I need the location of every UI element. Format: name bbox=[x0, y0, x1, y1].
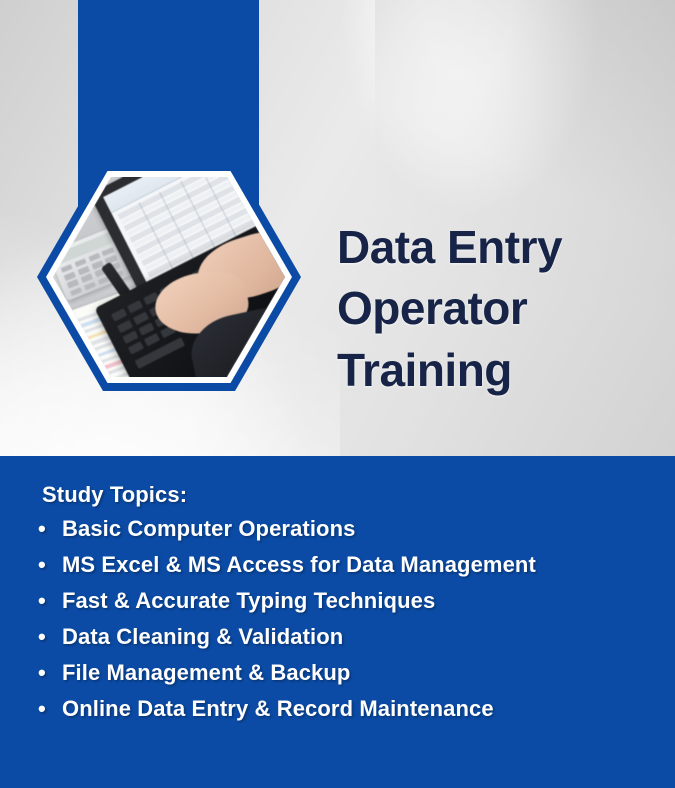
study-topic-label: Fast & Accurate Typing Techniques bbox=[62, 588, 435, 614]
list-item: •Basic Computer Operations bbox=[38, 516, 658, 552]
study-topic-label: Basic Computer Operations bbox=[62, 516, 355, 542]
training-course-poster: Data Entry Operator Training Study Topic… bbox=[0, 0, 675, 788]
bullet-icon: • bbox=[38, 590, 62, 612]
study-topic-label: MS Excel & MS Access for Data Management bbox=[62, 552, 536, 578]
list-item: •File Management & Backup bbox=[38, 660, 658, 696]
photo-calculator-key bbox=[84, 281, 96, 290]
study-topic-label: File Management & Backup bbox=[62, 660, 350, 686]
list-item: •Online Data Entry & Record Maintenance bbox=[38, 696, 658, 732]
study-topics-heading: Study Topics: bbox=[42, 482, 187, 508]
bullet-icon: • bbox=[38, 662, 62, 684]
page-title-line-2: Operator bbox=[337, 282, 527, 334]
page-title-line-3: Training bbox=[337, 344, 512, 396]
bullet-icon: • bbox=[38, 554, 62, 576]
list-item: •Data Cleaning & Validation bbox=[38, 624, 658, 660]
study-topics-list: •Basic Computer Operations•MS Excel & MS… bbox=[38, 516, 658, 732]
study-topic-label: Online Data Entry & Record Maintenance bbox=[62, 696, 494, 722]
list-item: •MS Excel & MS Access for Data Managemen… bbox=[38, 552, 658, 588]
page-title-line-1: Data Entry bbox=[337, 221, 562, 273]
bullet-icon: • bbox=[38, 518, 62, 540]
bullet-icon: • bbox=[38, 698, 62, 720]
page-title: Data Entry Operator Training bbox=[337, 217, 657, 402]
study-topic-label: Data Cleaning & Validation bbox=[62, 624, 343, 650]
bullet-icon: • bbox=[38, 626, 62, 648]
photo-calculator-key bbox=[70, 287, 82, 296]
list-item: •Fast & Accurate Typing Techniques bbox=[38, 588, 658, 624]
study-topics-panel: Study Topics: •Basic Computer Operations… bbox=[0, 456, 675, 788]
hexagon-photo-frame bbox=[37, 163, 301, 391]
